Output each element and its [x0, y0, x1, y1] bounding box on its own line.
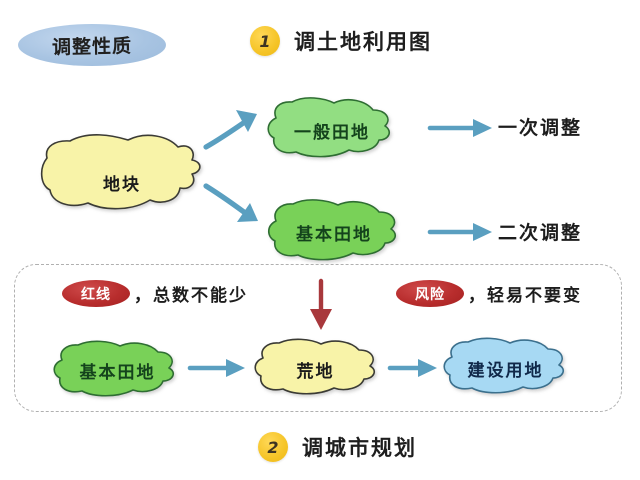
node-label-general-farm: 一般田地	[272, 110, 392, 150]
arrow-parcel-to-general	[206, 110, 257, 147]
arrow-down-red	[310, 281, 332, 330]
section-tag: 调整性质	[18, 24, 166, 66]
node-label-basic-farm-lower: 基本田地	[60, 351, 175, 389]
node-label-parcel: 地块	[47, 158, 197, 206]
side-label-second-adjustment: 二次调整	[498, 218, 582, 245]
step-number-badge-1: 1	[250, 26, 280, 56]
step-heading-2: 2 调城市规划	[258, 432, 417, 462]
step-title-1: 调土地利用图	[294, 26, 432, 56]
node-label-wasteland: 荒地	[258, 350, 373, 388]
step-heading-1: 1 调土地利用图	[250, 26, 432, 56]
note-risk: 风险 ，轻易不要变	[396, 280, 582, 307]
arrow-general-to-first	[430, 119, 492, 137]
arrow-wasteland-to-construction	[390, 359, 437, 377]
section-tag-label: 调整性质	[52, 31, 132, 59]
step-number-badge-2: 2	[258, 432, 288, 462]
arrow-basic-to-wasteland	[190, 359, 245, 377]
note-redline: 红线 ，总数不能少	[62, 280, 248, 307]
side-label-first-adjustment: 一次调整	[498, 113, 582, 140]
badge-redline: 红线	[62, 280, 130, 307]
note-risk-text: ，轻易不要变	[468, 281, 582, 306]
arrow-basic-to-second	[430, 223, 492, 241]
note-redline-text: ，总数不能少	[134, 281, 248, 306]
badge-risk: 风险	[396, 280, 464, 307]
node-label-construction: 建设用地	[448, 349, 563, 387]
arrow-parcel-to-basic	[206, 186, 258, 222]
node-label-basic-farm-upper: 基本田地	[274, 212, 394, 252]
step-title-2: 调城市规划	[302, 432, 417, 462]
